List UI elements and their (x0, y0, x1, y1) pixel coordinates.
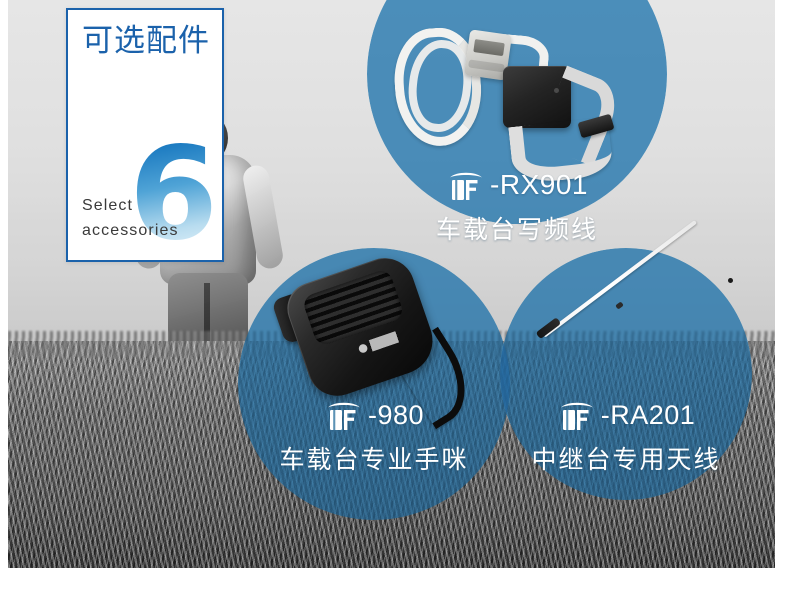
bf-logo-icon (557, 398, 597, 432)
caption-rx901: -RX901 车载台写频线 (367, 168, 667, 246)
brand-logo-small-icon (354, 330, 401, 356)
product-image-antenna (536, 276, 732, 396)
description-label: 车载台写频线 (367, 210, 667, 246)
product-image-programming-cable (383, 10, 613, 175)
description-label: 中继台专用天线 (500, 440, 752, 476)
model-label: -RA201 (601, 400, 696, 431)
subtitle-line-2: accessories (82, 219, 179, 244)
caption-980: -980 车载台专业手咪 (238, 398, 510, 476)
subtitle-line-1: Select (82, 194, 179, 219)
caption-ra201: -RA201 中继台专用天线 (500, 398, 752, 476)
section-title-panel: 可选配件 6 Select accessories (66, 8, 224, 262)
model-label: -RX901 (490, 169, 588, 201)
description-label: 车载台专业手咪 (238, 440, 510, 476)
product-image-speaker-microphone (268, 262, 478, 402)
bf-logo-icon (324, 398, 364, 432)
section-subtitle: Select accessories (82, 194, 179, 244)
model-label: -980 (368, 400, 424, 431)
product-accessories-banner: -RX901 车载台写频线 -980 车载台专业手咪 (0, 0, 790, 600)
bf-logo-icon (446, 168, 486, 202)
page-title: 可选配件 (82, 24, 210, 58)
